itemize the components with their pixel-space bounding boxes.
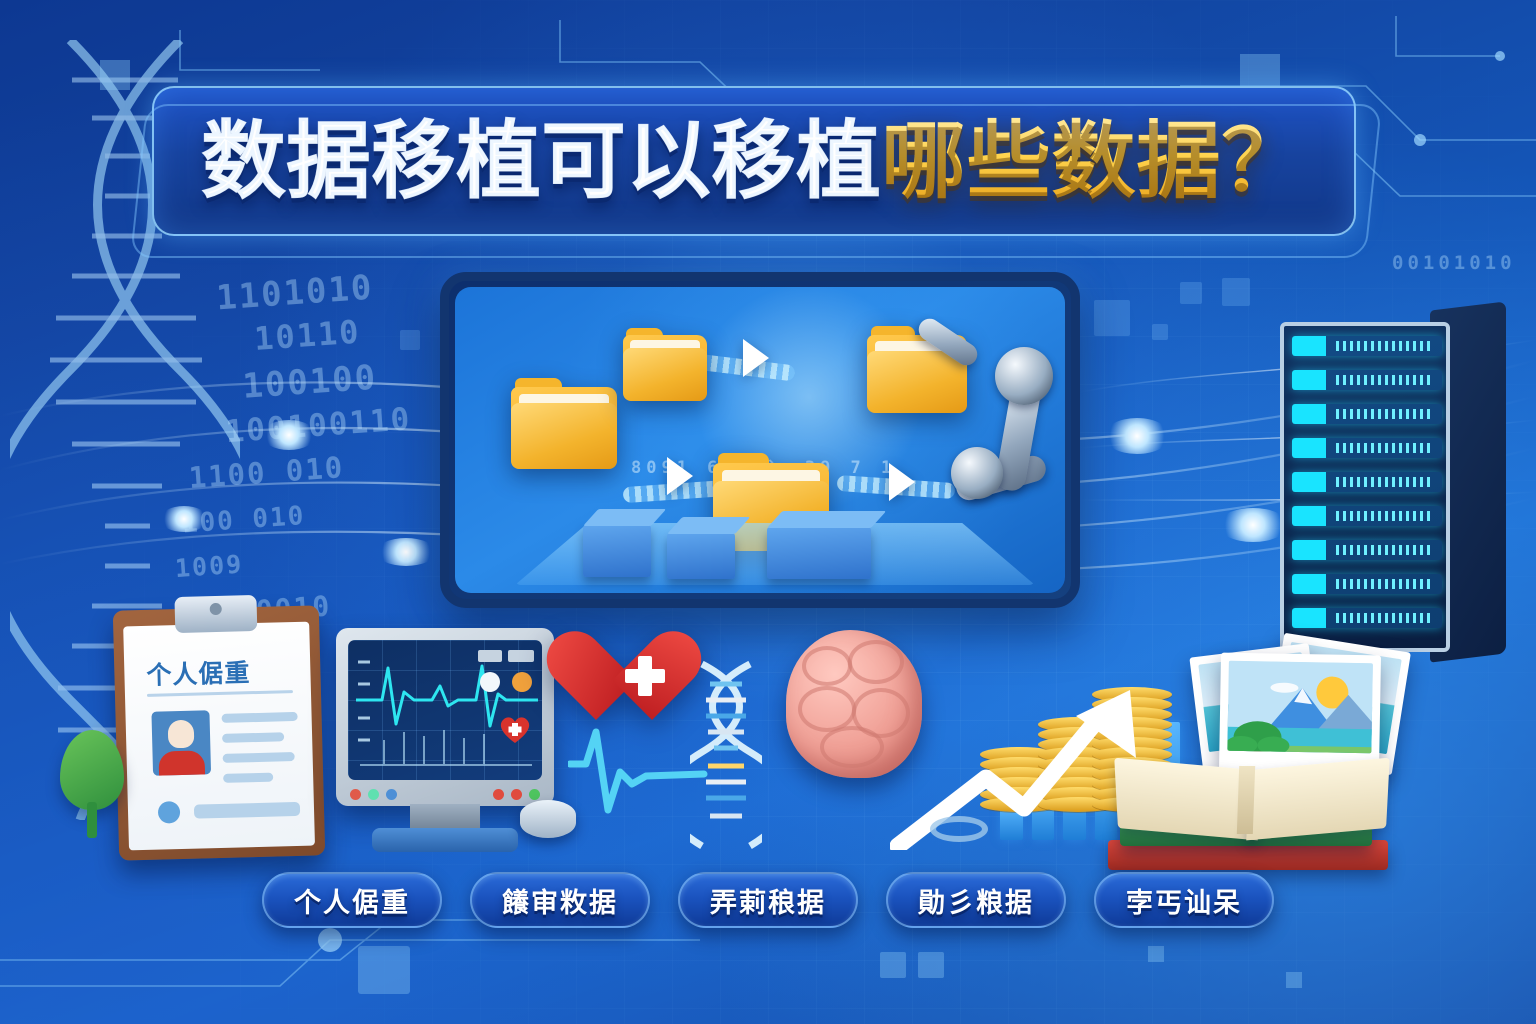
photo-front <box>1219 653 1381 774</box>
server-rack-unit <box>1292 336 1442 356</box>
info-line <box>222 732 284 743</box>
folder-icon <box>511 387 617 469</box>
decor-square <box>1180 282 1202 304</box>
folder-icon <box>623 335 707 401</box>
pill-personal-info[interactable]: 个人倨重 <box>262 872 442 928</box>
screen-indicator <box>508 650 534 662</box>
monitor-led <box>511 789 522 800</box>
pill-health-data[interactable]: 䭥审敉据 <box>470 872 650 928</box>
server-rack-unit <box>1292 370 1442 390</box>
data-migration-tablet: 8091 6 ౭ ⼎ 39 7 1 <box>440 272 1080 608</box>
monitor-screen <box>348 640 542 780</box>
category-pill-row: 个人倨重 䭥审敉据 弄䓶稂据 勛彡粮据 孛丐讪呆 <box>0 872 1536 934</box>
tablet-screen: 8091 6 ౭ ⼎ 39 7 1 <box>455 287 1065 593</box>
monitor-led <box>493 789 504 800</box>
ring-decoration <box>930 816 988 842</box>
transfer-arrow-icon <box>743 339 769 377</box>
glow-node <box>376 538 436 566</box>
decor-square <box>400 330 420 350</box>
poster-canvas: 1101010 10110 100100 100100110 1100 010 … <box>0 0 1536 1024</box>
screen-dot <box>480 672 500 692</box>
monitor-led <box>386 789 397 800</box>
info-line <box>223 773 273 783</box>
server-rack-unit <box>1292 608 1442 628</box>
server-rack-unit <box>1292 472 1442 492</box>
data-block <box>667 533 735 579</box>
pill-gene-data[interactable]: 弄䓶稂据 <box>678 872 858 928</box>
server-front-panel <box>1280 322 1450 652</box>
screen-indicator <box>478 650 502 662</box>
server-rack-unit <box>1292 506 1442 526</box>
id-photo <box>151 710 211 775</box>
info-line <box>222 712 298 723</box>
dna-strand-icon <box>690 660 762 850</box>
monitor-case <box>336 628 554 806</box>
personal-info-clipboard: 个人倨重 <box>113 605 325 860</box>
title-white-part: 数据移植可以移植 <box>201 114 881 208</box>
title-banner: 数据移植可以移植哪些数据？ <box>152 86 1356 236</box>
monitor-led <box>368 789 379 800</box>
glow-node <box>1104 418 1170 454</box>
pill-memory-data[interactable]: 孛丐讪呆 <box>1094 872 1274 928</box>
transfer-arrow-icon <box>889 463 915 501</box>
server-rack-unit <box>1292 540 1442 560</box>
transfer-arrow-icon <box>667 457 693 495</box>
data-block <box>767 527 871 579</box>
info-line <box>194 802 300 819</box>
book-spine-fold <box>1237 766 1255 834</box>
decor-square <box>1094 300 1130 336</box>
server-rack-illustration <box>1280 322 1450 652</box>
monitor-base <box>372 828 518 852</box>
glow-node <box>262 420 316 450</box>
clipboard-heading: 个人倨重 <box>146 652 297 692</box>
book-stack <box>1098 760 1398 870</box>
robot-arm-joint <box>951 447 1003 499</box>
glow-node <box>160 506 208 532</box>
clipboard-clip <box>174 595 257 633</box>
info-bullet <box>158 801 181 824</box>
landscape-scene <box>1227 661 1373 753</box>
mini-heart-icon <box>498 714 532 744</box>
glow-node <box>1218 508 1288 542</box>
ecg-pulse-line <box>568 718 708 838</box>
decor-square <box>1222 278 1250 306</box>
info-line <box>223 752 295 763</box>
page-title: 数据移植可以移植哪些数据？ <box>201 119 1306 203</box>
decor-square <box>1152 324 1168 340</box>
data-block <box>583 525 651 577</box>
robot-arm-joint <box>995 347 1053 405</box>
book-page-right <box>1246 758 1389 841</box>
tree-decoration <box>60 730 124 838</box>
server-rack-unit <box>1292 404 1442 424</box>
screen-dot <box>512 672 532 692</box>
title-gold-part: 哪些数据？ <box>882 114 1307 208</box>
server-rack-unit <box>1292 574 1442 594</box>
monitor-led <box>350 789 361 800</box>
clipboard-paper: 个人倨重 <box>123 622 315 851</box>
health-heart-icon <box>596 634 694 726</box>
pill-finance-data[interactable]: 勛彡粮据 <box>886 872 1066 928</box>
binary-code-right: 00101010 <box>1392 252 1516 274</box>
photo-landscape <box>1227 661 1373 753</box>
server-rack-unit <box>1292 438 1442 458</box>
monitor-led <box>529 789 540 800</box>
